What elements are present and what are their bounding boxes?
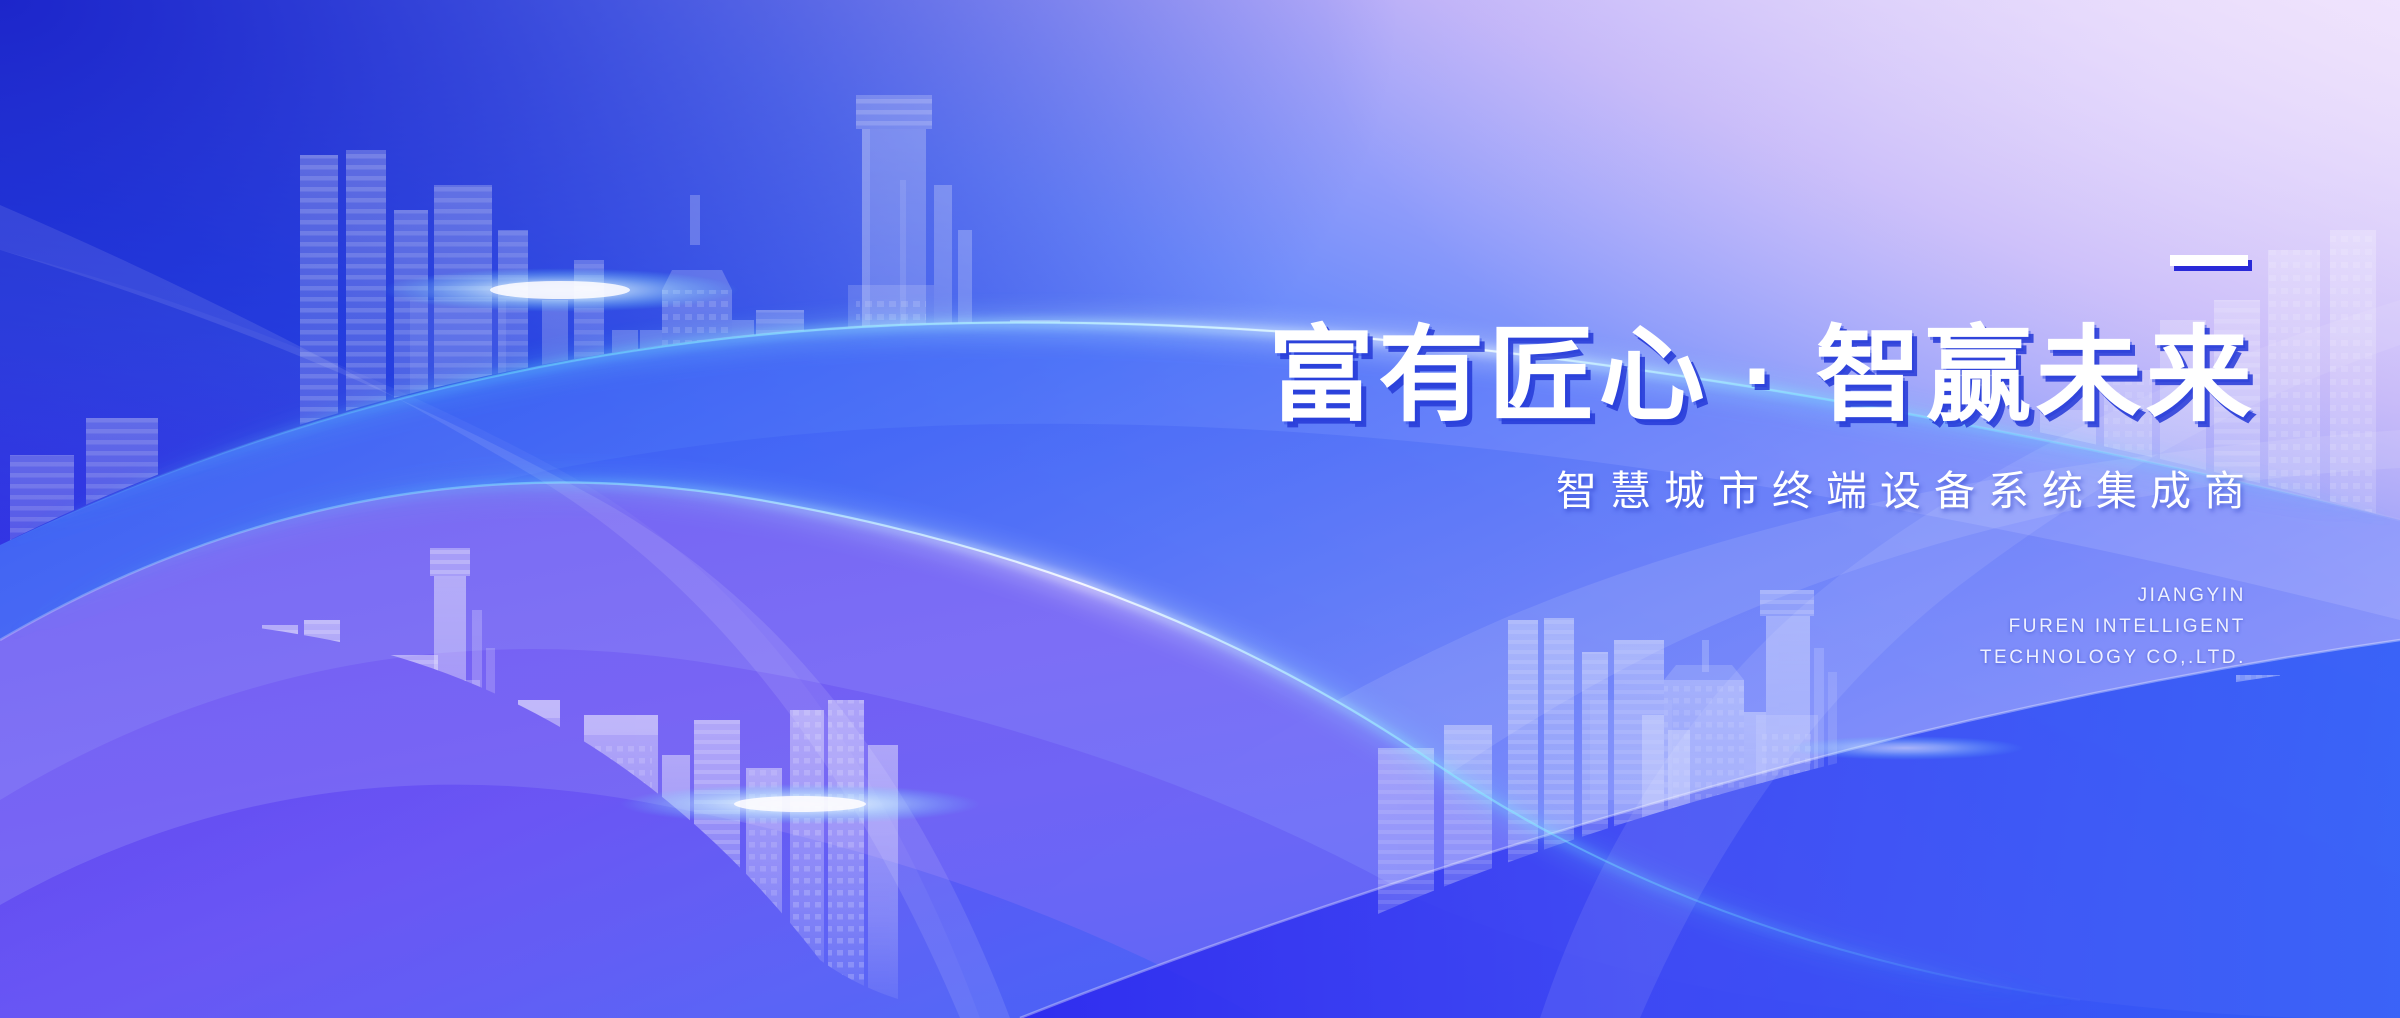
page-title: 富有匠心 · 智赢未来 <box>1056 323 2260 429</box>
banner-canvas: 富有匠心 · 智赢未来 智慧城市终端设备系统集成商 JIANGYIN FUREN… <box>0 0 2400 1018</box>
company-line-2: FUREN INTELLIGENT <box>1080 612 2246 643</box>
page-subtitle: 智慧城市终端设备系统集成商 <box>1080 457 2260 517</box>
headline-text-block: 富有匠心 · 智赢未来 智慧城市终端设备系统集成商 JIANGYIN FUREN… <box>1080 255 2260 673</box>
company-name-block: JIANGYIN FUREN INTELLIGENT TECHNOLOGY CO… <box>1080 581 2260 673</box>
company-line-3: TECHNOLOGY CO,.LTD. <box>1080 643 2246 674</box>
accent-dash-icon <box>2170 255 2248 266</box>
company-line-1: JIANGYIN <box>1080 581 2246 612</box>
